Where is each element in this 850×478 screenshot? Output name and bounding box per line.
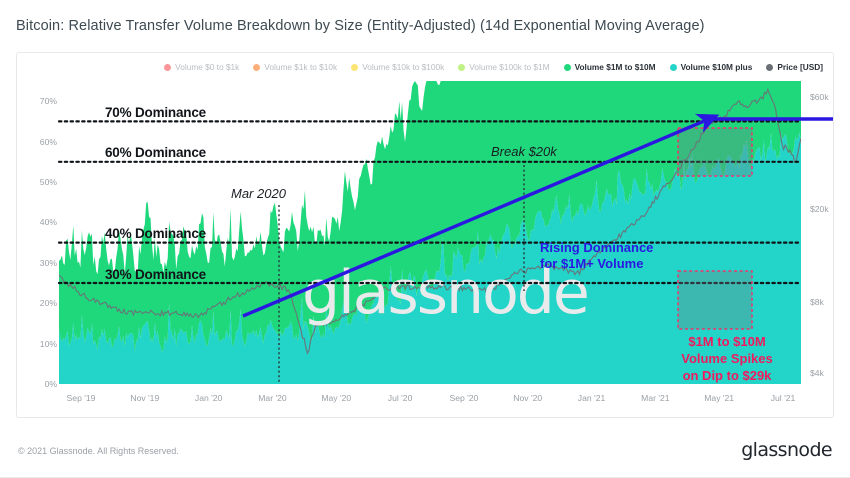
chart-card: Volume $0 to $1kVolume $1k to $10kVolume… <box>16 52 834 418</box>
y-tick-right-$4k: $4k <box>810 368 834 378</box>
y-tick-left-30%: 30% <box>31 258 57 268</box>
glassnode-logo: glassnode <box>741 439 832 461</box>
legend-item-5[interactable]: Volume $10M plus <box>670 62 753 72</box>
y-tick-left-0%: 0% <box>31 379 57 389</box>
legend-item-1[interactable]: Volume $1k to $10k <box>253 62 337 72</box>
legend-item-6[interactable]: Price [USD] <box>766 62 823 72</box>
legend-swatch-icon <box>766 64 773 71</box>
x-tick-8: Jan '21 <box>578 393 605 403</box>
y-tick-left-50%: 50% <box>31 177 57 187</box>
highlight-box-upper <box>678 128 752 176</box>
plot-area: 70% Dominance 60% Dominance 40% Dominanc… <box>59 81 801 384</box>
legend-item-2[interactable]: Volume $10k to $100k <box>351 62 444 72</box>
y-tick-left-10%: 10% <box>31 339 57 349</box>
page-title: Bitcoin: Relative Transfer Volume Breakd… <box>16 18 705 34</box>
legend-label: Volume $0 to $1k <box>175 62 239 72</box>
annotation-overlay <box>59 81 801 384</box>
x-tick-11: Jul '21 <box>771 393 796 403</box>
highlight-box-lower <box>678 271 752 329</box>
legend-label: Price [USD] <box>777 62 823 72</box>
x-tick-4: May '20 <box>321 393 351 403</box>
x-tick-7: Nov '20 <box>513 393 542 403</box>
legend-swatch-icon <box>670 64 677 71</box>
legend-swatch-icon <box>351 64 358 71</box>
legend-label: Volume $10k to $100k <box>362 62 444 72</box>
legend-swatch-icon <box>458 64 465 71</box>
y-tick-left-20%: 20% <box>31 298 57 308</box>
legend-item-0[interactable]: Volume $0 to $1k <box>164 62 239 72</box>
chart-legend: Volume $0 to $1kVolume $1k to $10kVolume… <box>17 58 833 76</box>
x-tick-1: Nov '19 <box>130 393 159 403</box>
legend-label: Volume $100k to $1M <box>469 62 549 72</box>
x-tick-9: Mar '21 <box>641 393 669 403</box>
y-tick-left-60%: 60% <box>31 137 57 147</box>
y-tick-right-$60k: $60k <box>810 92 834 102</box>
legend-label: Volume $1k to $10k <box>264 62 337 72</box>
y-tick-left-40%: 40% <box>31 217 57 227</box>
rising-dominance-arrow <box>243 119 709 316</box>
y-tick-left-70%: 70% <box>31 96 57 106</box>
x-tick-2: Jan '20 <box>195 393 222 403</box>
y-tick-right-$20k: $20k <box>810 204 834 214</box>
x-tick-10: May '21 <box>704 393 734 403</box>
x-tick-5: Jul '20 <box>388 393 413 403</box>
y-tick-right-$8k: $8k <box>810 297 834 307</box>
legend-label: Volume $1M to $10M <box>575 62 656 72</box>
x-tick-3: Mar '20 <box>258 393 286 403</box>
legend-swatch-icon <box>253 64 260 71</box>
x-tick-6: Sep '20 <box>449 393 478 403</box>
x-tick-0: Sep '19 <box>67 393 96 403</box>
footer-copyright: © 2021 Glassnode. All Rights Reserved. <box>18 446 179 456</box>
legend-item-3[interactable]: Volume $100k to $1M <box>458 62 549 72</box>
legend-swatch-icon <box>564 64 571 71</box>
legend-label: Volume $10M plus <box>681 62 753 72</box>
chart-page: Bitcoin: Relative Transfer Volume Breakd… <box>0 0 850 478</box>
legend-item-4[interactable]: Volume $1M to $10M <box>564 62 656 72</box>
legend-swatch-icon <box>164 64 171 71</box>
